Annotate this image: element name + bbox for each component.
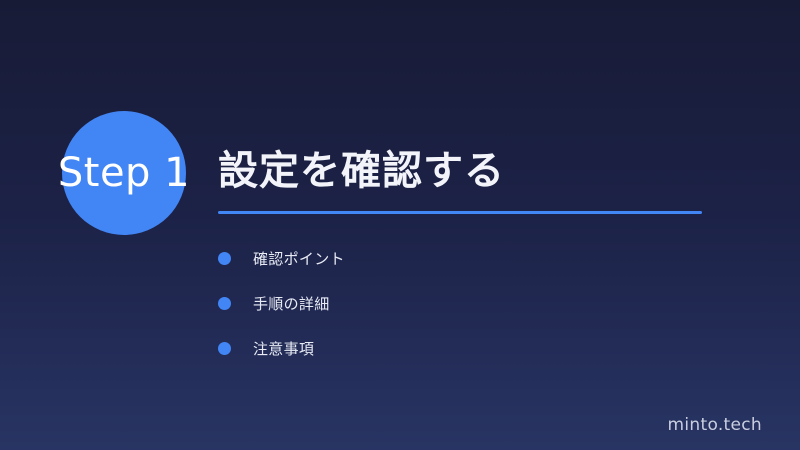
title-divider	[218, 211, 702, 214]
slide-title: 設定を確認する	[218, 146, 505, 196]
bullet-list: 確認ポイント 手順の詳細 注意事項	[218, 236, 698, 371]
footer-watermark: minto.tech	[668, 414, 762, 436]
list-item-label: 手順の詳細	[253, 294, 330, 314]
list-item: 手順の詳細	[218, 281, 698, 326]
list-item-label: 注意事項	[253, 339, 314, 359]
list-item: 注意事項	[218, 326, 698, 371]
step-badge-label: Step 1	[0, 148, 248, 198]
bullet-dot-icon	[218, 342, 231, 355]
list-item: 確認ポイント	[218, 236, 698, 281]
bullet-dot-icon	[218, 252, 231, 265]
slide-canvas: Step 1 設定を確認する 確認ポイント 手順の詳細 注意事項 minto.t…	[0, 0, 800, 450]
list-item-label: 確認ポイント	[253, 249, 345, 269]
bullet-dot-icon	[218, 297, 231, 310]
